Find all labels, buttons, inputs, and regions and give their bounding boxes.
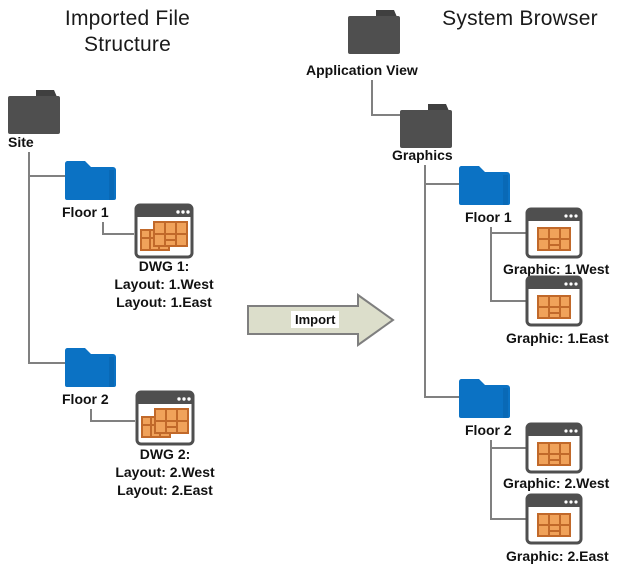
right-graphic-2west-label: Graphic: 2.West <box>503 475 609 492</box>
right-floor1-child-vline <box>490 227 492 302</box>
right-floor1-graphic2-hline <box>490 300 526 302</box>
right-root-label: Application View <box>306 62 418 79</box>
right-graphic-1west-node[interactable] <box>525 207 583 264</box>
folder-blue-icon <box>64 342 116 390</box>
import-arrow-label: Import <box>291 311 339 328</box>
left-dwg2-node[interactable] <box>135 390 195 451</box>
left-panel-title: Imported File Structure <box>20 6 235 58</box>
right-graphic-1east-label: Graphic: 1.East <box>506 330 609 347</box>
left-dwg2-layout-2: Layout: 2.East <box>105 482 225 499</box>
right-floor2-child-vline <box>490 440 492 520</box>
left-title-text: Imported File Structure <box>65 7 190 56</box>
folder-blue-icon <box>64 155 116 203</box>
left-dwg1-node[interactable] <box>134 203 194 264</box>
diagram-canvas: Imported File Structure System Browser S… <box>0 0 628 576</box>
left-branch-floor2-line <box>28 362 68 364</box>
left-dwg1-layout-2: Layout: 1.East <box>104 294 224 311</box>
dwg-window-icon <box>135 390 195 446</box>
right-root-hline <box>371 114 401 116</box>
folder-blue-icon <box>458 160 510 208</box>
right-title-text: System Browser <box>442 7 598 30</box>
right-floor1-label: Floor 1 <box>465 209 512 226</box>
right-graphic-1east-node[interactable] <box>525 275 583 332</box>
right-branch-floor2-line <box>424 396 460 398</box>
folder-gray-icon <box>8 88 60 136</box>
graphic-window-icon <box>525 422 583 474</box>
right-graphic-2east-label: Graphic: 2.East <box>506 548 609 565</box>
left-trunk-line <box>28 152 30 364</box>
left-branch-floor1-line <box>28 175 68 177</box>
left-dwg1-name: DWG 1: <box>104 258 224 275</box>
folder-gray-icon <box>400 102 452 150</box>
right-floor1-graphic1-hline <box>490 232 526 234</box>
left-dwg2-name: DWG 2: <box>105 446 225 463</box>
left-floor2-child-hline <box>90 420 135 422</box>
right-graphic-2east-node[interactable] <box>525 493 583 550</box>
right-panel-title: System Browser <box>440 6 600 32</box>
left-dwg1-layout-1: Layout: 1.West <box>104 276 224 293</box>
right-trunk-line <box>424 165 426 398</box>
graphic-window-icon <box>525 275 583 327</box>
folder-gray-icon <box>348 8 400 56</box>
right-graphics-label: Graphics <box>392 147 453 164</box>
graphic-window-icon <box>525 493 583 545</box>
right-floor2-graphic1-hline <box>490 447 526 449</box>
right-floor2-label: Floor 2 <box>465 422 512 439</box>
left-floor1-child-hline <box>102 233 134 235</box>
folder-blue-icon <box>458 373 510 421</box>
left-floor1-label: Floor 1 <box>62 204 109 221</box>
dwg-window-icon <box>134 203 194 259</box>
right-floor2-graphic2-hline <box>490 518 526 520</box>
right-root-vline <box>371 80 373 116</box>
left-floor2-label: Floor 2 <box>62 391 109 408</box>
right-branch-floor1-line <box>424 183 460 185</box>
graphic-window-icon <box>525 207 583 259</box>
left-dwg2-layout-1: Layout: 2.West <box>105 464 225 481</box>
right-graphic-2west-node[interactable] <box>525 422 583 479</box>
left-root-label: Site <box>8 134 34 151</box>
